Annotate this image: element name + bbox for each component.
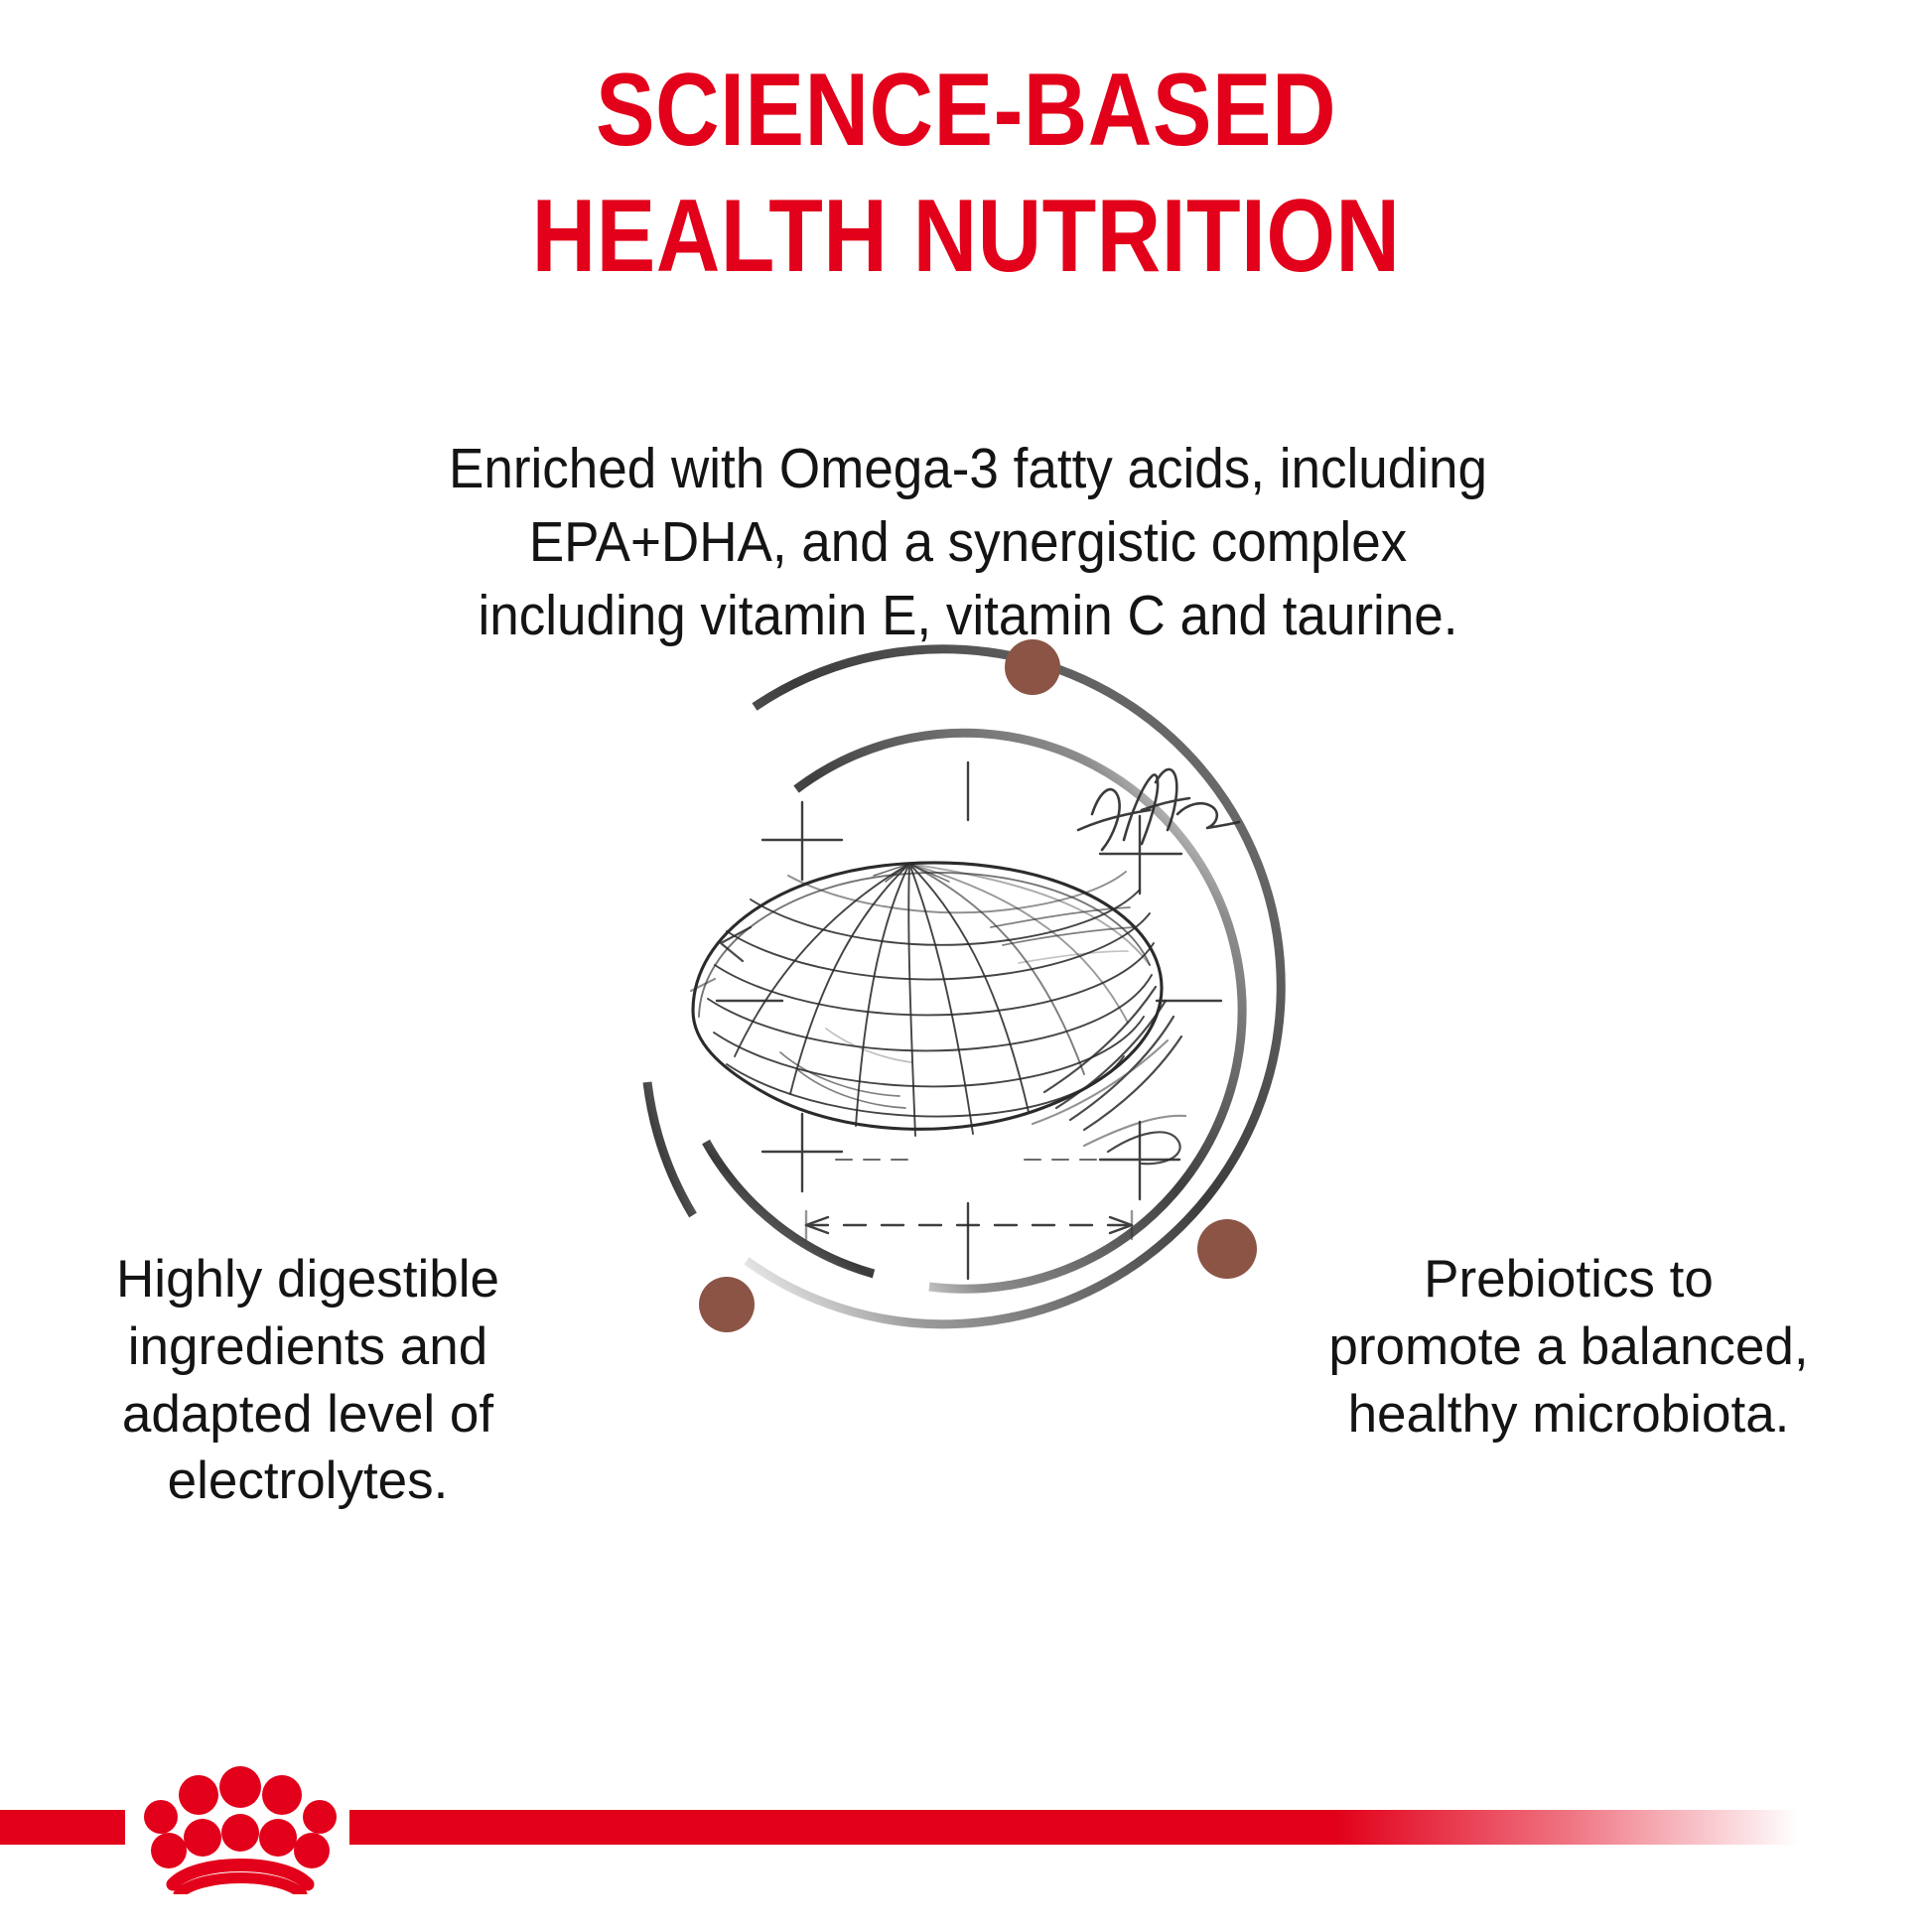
product-feature-panel: SCIENCE-BASED HEALTH NUTRITION Enriched … <box>0 0 1932 1932</box>
benefit-caption-left-line-2: ingredients and <box>55 1313 561 1381</box>
intro-line-2: EPA+DHA, and a synergistic complex <box>372 505 1564 579</box>
accent-dot-right <box>1197 1219 1257 1279</box>
outer-ring <box>647 649 1281 1324</box>
page-title: SCIENCE-BASED HEALTH NUTRITION <box>135 48 1797 300</box>
royal-canin-crown-logo <box>137 1755 344 1894</box>
benefit-caption-right: Prebiotics to promote a balanced, health… <box>1301 1246 1837 1448</box>
inner-ring <box>706 733 1242 1289</box>
accent-dot-bottom-left <box>699 1277 755 1332</box>
page-title-line-2: HEALTH NUTRITION <box>135 174 1797 300</box>
benefit-caption-right-line-2: promote a balanced, <box>1301 1313 1837 1381</box>
benefit-caption-left-line-4: electrolytes. <box>55 1448 561 1515</box>
kibble-emblem <box>576 616 1360 1400</box>
intro-line-1: Enriched with Omega-3 fatty acids, inclu… <box>372 432 1564 505</box>
accent-dot-top <box>1005 639 1060 695</box>
benefit-caption-right-line-3: healthy microbiota. <box>1301 1381 1837 1449</box>
page-title-line-1: SCIENCE-BASED <box>135 48 1797 174</box>
kibble-sketch-icon <box>691 762 1239 1279</box>
footer-bar-left <box>0 1810 125 1845</box>
benefit-caption-left-line-3: adapted level of <box>55 1381 561 1449</box>
footer-bar-right <box>349 1810 1799 1845</box>
benefit-caption-left: Highly digestible ingredients and adapte… <box>55 1246 561 1515</box>
benefit-caption-right-line-1: Prebiotics to <box>1301 1246 1837 1313</box>
benefit-caption-left-line-1: Highly digestible <box>55 1246 561 1313</box>
